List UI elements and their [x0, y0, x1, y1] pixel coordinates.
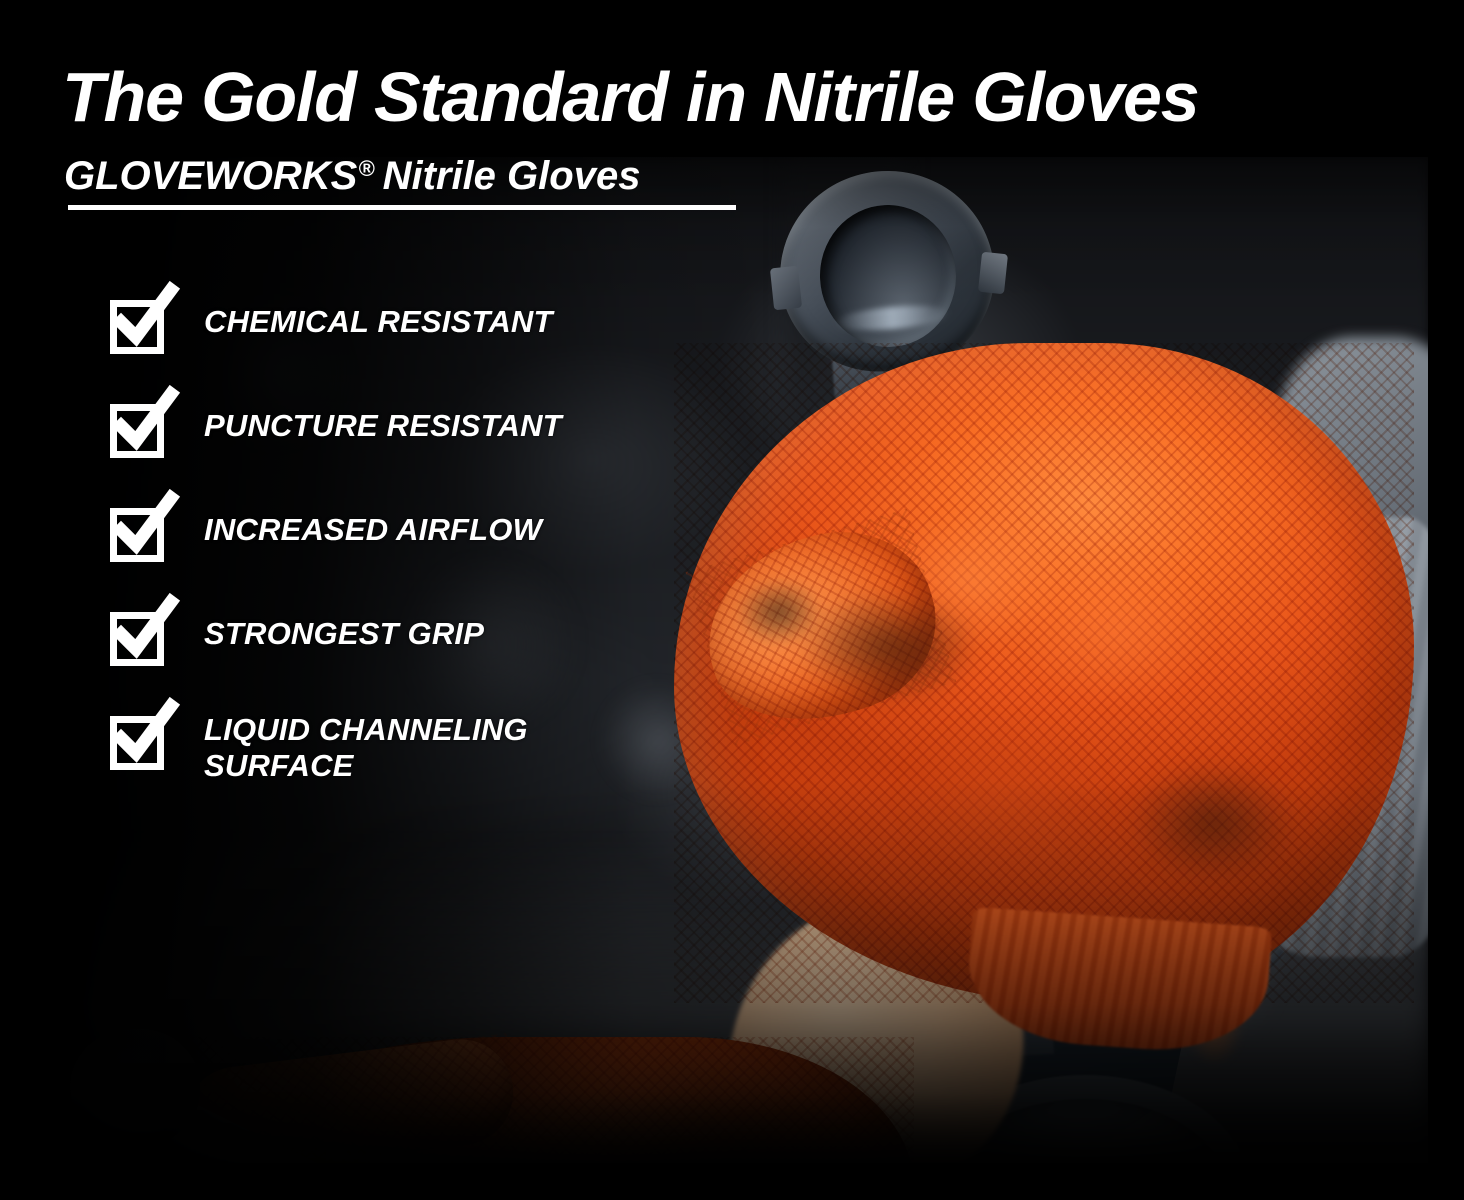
- registered-trademark-icon: ®: [358, 158, 374, 180]
- text-overlay: The Gold Standard in Nitrile Gloves GLOV…: [0, 0, 1464, 1200]
- brand-name: GLOVEWORKS: [64, 156, 357, 196]
- checked-checkbox-icon: [106, 500, 168, 562]
- divider: [68, 205, 736, 210]
- checked-checkbox-icon: [106, 604, 168, 666]
- feature-item: STRONGEST GRIP: [106, 604, 562, 666]
- feature-item: PUNCTURE RESISTANT: [106, 396, 562, 458]
- feature-label: PUNCTURE RESISTANT: [204, 396, 562, 444]
- checked-checkbox-icon: [106, 396, 168, 458]
- brand-line: GLOVEWORKS®Nitrile Gloves: [64, 156, 640, 196]
- feature-label: STRONGEST GRIP: [204, 604, 484, 652]
- feature-list: CHEMICAL RESISTANT PUNCTURE RESISTANT: [106, 292, 562, 784]
- feature-label: CHEMICAL RESISTANT: [204, 292, 553, 340]
- page-title: The Gold Standard in Nitrile Gloves: [62, 62, 1199, 132]
- promo-banner: 45: [0, 0, 1464, 1200]
- brand-suffix: Nitrile Gloves: [383, 156, 641, 196]
- feature-item: INCREASED AIRFLOW: [106, 500, 562, 562]
- feature-label: INCREASED AIRFLOW: [204, 500, 542, 548]
- feature-item: LIQUID CHANNELING SURFACE: [106, 708, 562, 784]
- checked-checkbox-icon: [106, 708, 168, 770]
- feature-item: CHEMICAL RESISTANT: [106, 292, 562, 354]
- checked-checkbox-icon: [106, 292, 168, 354]
- feature-label: LIQUID CHANNELING SURFACE: [204, 708, 528, 784]
